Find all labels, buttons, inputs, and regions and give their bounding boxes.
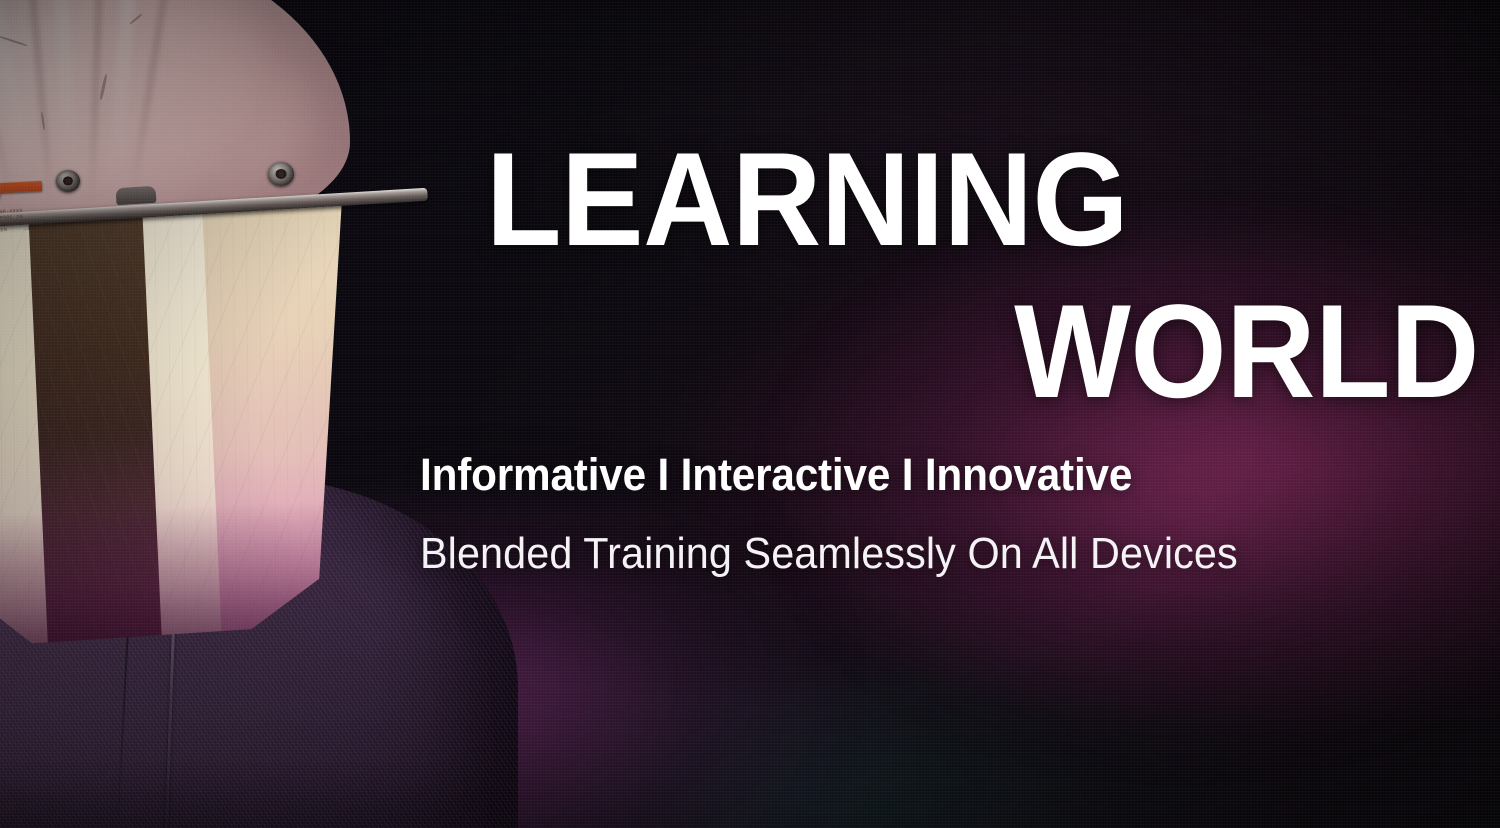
page-title-line-2: WORLD xyxy=(1014,286,1479,419)
learning-world-banner: SP-XXXX PROC 20 S- 9 IOU EN .1 LEARNING … xyxy=(0,0,1500,828)
page-title-line-1: LEARNING xyxy=(486,134,1128,267)
tagline: Blended Training Seamlessly On All Devic… xyxy=(420,532,1238,576)
subheadline: Informative I Interactive I Innovative xyxy=(420,452,1132,497)
